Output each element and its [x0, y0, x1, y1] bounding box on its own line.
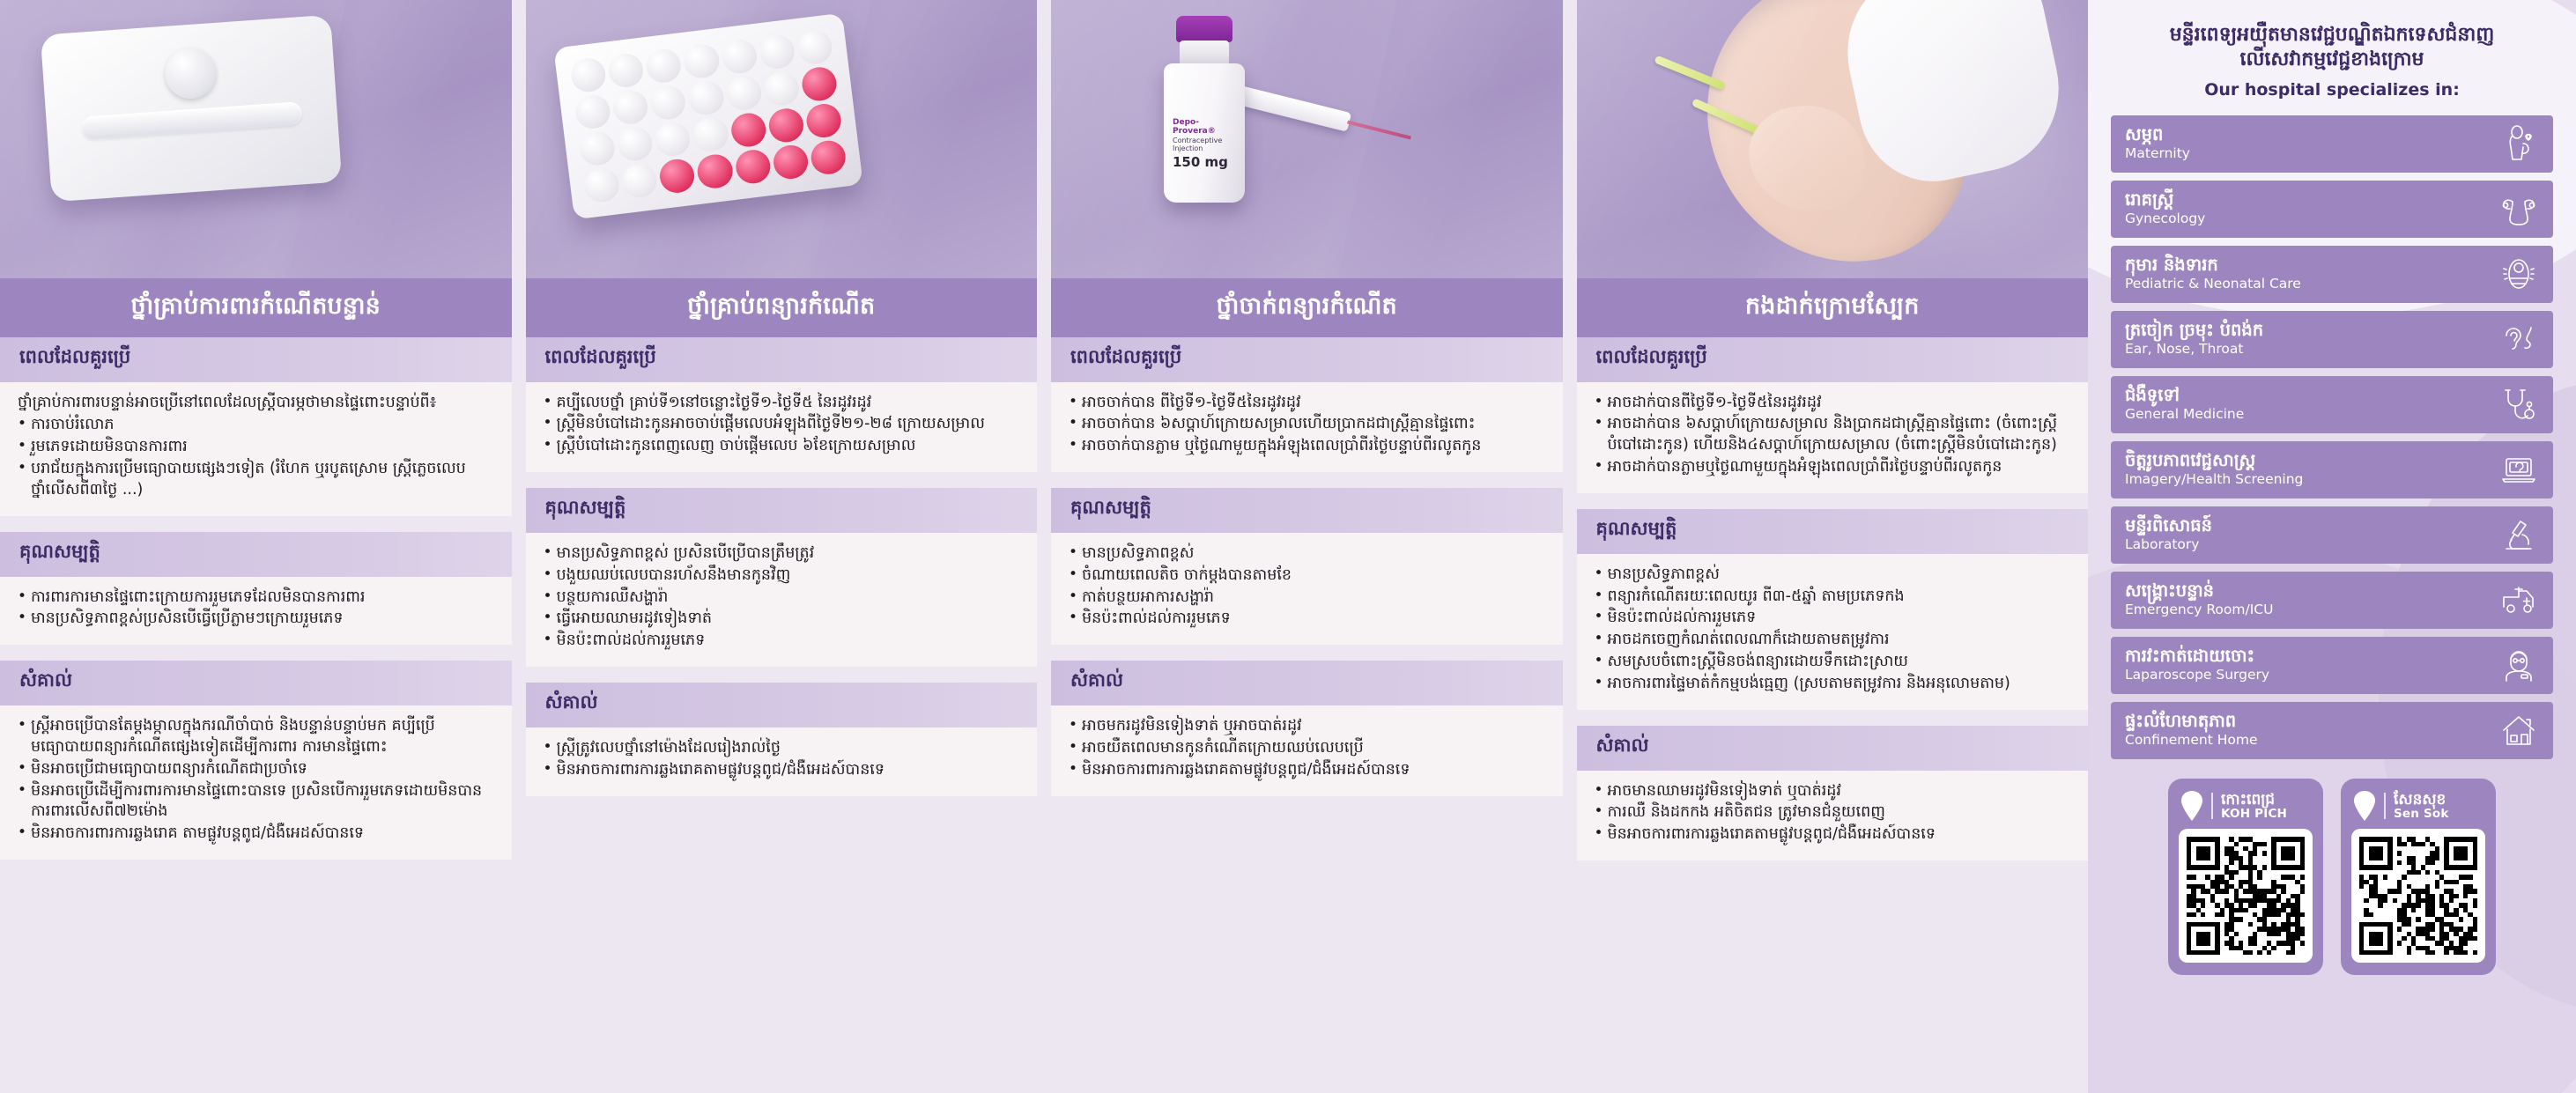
section-body-advantages: មានប្រសិទ្ធភាពខ្ពស់ ប្រសិនបើប្រើបានត្រឹម…: [526, 533, 1038, 667]
service-label-en: Imagery/Health Screening: [2125, 471, 2303, 488]
service-label-kh: ផ្ទះលំហែមាតុភាព: [2125, 713, 2258, 730]
method-columns: ថ្នាំគ្រាប់ការពារកំណើតបន្ទាន់ ពេលដែលគួរប…: [0, 0, 2088, 1093]
list-item: មិនប៉ះពាល់ដល់ការរួមភេទ: [1595, 608, 2071, 629]
bullet-list: ការពារការមានផ្ទៃពោះក្រោយការរួមភេទដែលមិនប…: [18, 587, 494, 631]
map-pin-icon: [2353, 791, 2376, 821]
section-heading-advantages: គុណសម្បត្តិ: [1577, 509, 2089, 554]
list-item: ធ្វើអោយឈាមរដូវទៀងទាត់: [544, 609, 1020, 630]
bullet-list: ស្ត្រីអាចប្រើបានតែម្តងម្កាលក្នុងករណីចាំប…: [18, 716, 494, 845]
list-item: អាចមានឈាមរដូវមិនទៀងទាត់ ឬបាត់រដូវ: [1595, 781, 2071, 802]
section-heading-notes: សំគាល់: [0, 661, 512, 705]
list-item: មានប្រសិទ្ធភាពខ្ពស់ ប្រសិនបើប្រើបានត្រឹម…: [544, 543, 1020, 565]
bullet-list: ការចាប់រំលោភ រួមភេទដោយមិនបានការពារ បរាជ័…: [18, 415, 494, 500]
sidebar-title: មន្ទីរពេទ្យអយ៉ឺតមានវេជ្ជបណ្ឌិតឯកទេសជំនាញ…: [2111, 0, 2553, 72]
section-heading-when-to-use: ពេលដែលគួរប្រើ: [1051, 337, 1563, 382]
bullet-list: អាចដាក់បានពីថ្ងៃទី១-ថ្ងៃទី៥នៃរដូវរដូវ អា…: [1595, 393, 2071, 478]
section-heading-notes: សំគាល់: [1577, 726, 2089, 771]
service-label-kh: ត្រចៀក ច្រមុះ បំពង់ក: [2125, 321, 2263, 339]
oral-contraceptive-blister-sheet-image: [526, 0, 1038, 278]
section-body-notes: ស្ត្រីអាចប្រើបានតែម្តងម្កាលក្នុងករណីចាំប…: [0, 705, 512, 860]
list-item: មិនប៉ះពាល់ដល់ការរួមភេទ: [544, 631, 1020, 652]
service-label-kh: សម្ភព: [2125, 126, 2190, 144]
service-label-en: Emergency Room/ICU: [2125, 602, 2273, 618]
map-pin-icon: [2180, 791, 2203, 821]
service-item-laboratory[interactable]: មន្ទីរពិសោធន៍ Laboratory: [2111, 506, 2553, 564]
list-item: អាចដាក់បាន ៦សប្តាហ៍ក្រោយសម្រាល និងប្រាកដ…: [1595, 414, 2071, 456]
bullet-list: គប្បីលេបថ្នាំ គ្រាប់ទី១នៅចន្លោះថ្ងៃទី១-ថ…: [544, 393, 1020, 457]
list-item: អាចមករដូវមិនទៀងទាត់ ឬអាចបាត់រដូវ: [1069, 716, 1545, 737]
house-icon: [2498, 710, 2539, 750]
list-item: អាចចាក់បាន ៦សប្តាហ៍ក្រោយសម្រាលហើយប្រាកដជ…: [1069, 414, 1545, 435]
section-heading-advantages: គុណសម្បត្តិ: [0, 532, 512, 577]
service-item-maternity[interactable]: សម្ភព Maternity: [2111, 115, 2553, 173]
list-item: បន្ថយការឈឺសង្ហារ៉ា: [544, 587, 1020, 609]
list-item: ការចាប់រំលោភ: [18, 415, 494, 436]
service-label-kh: កុមារ និងទារក: [2125, 256, 2301, 274]
swaddled-baby-icon: [2498, 254, 2539, 294]
bullet-list: មានប្រសិទ្ធភាពខ្ពស់ ប្រសិនបើប្រើបានត្រឹម…: [544, 543, 1020, 652]
ambulance-icon: [2498, 580, 2539, 620]
service-item-pediatric-neonatal[interactable]: កុមារ និងទារក Pediatric & Neonatal Care: [2111, 246, 2553, 303]
location-card-sen-sok[interactable]: សែនសុខ Sen Sok: [2341, 779, 2496, 975]
section-intro: ថ្នាំគ្រាប់ការពារបន្ទាន់អាចប្រើនៅពេលដែលស…: [18, 393, 494, 414]
column-title: ថ្នាំគ្រាប់ពន្យារកំណើត: [526, 278, 1038, 337]
location-label-kh: សែនសុខ: [2394, 792, 2449, 808]
bullet-list: អាចចាក់បាន ពីថ្ងៃទី១-ថ្ងៃទី៥នៃរដូវរដូវ អ…: [1069, 393, 1545, 457]
bullet-list: មានប្រសិទ្ធភាពខ្ពស់ ចំណាយពេលតិច ចាក់ម្តង…: [1069, 543, 1545, 630]
section-body-when-to-use: អាចចាក់បាន ពីថ្ងៃទី១-ថ្ងៃទី៥នៃរដូវរដូវ អ…: [1051, 382, 1563, 472]
section-body-notes: ស្ត្រីត្រូវលេបថ្នាំនៅម៉ោងដែលរៀងរាល់ថ្ងៃ …: [526, 727, 1038, 796]
emergency-contraceptive-pill-pack-image: [0, 0, 512, 278]
section-body-advantages: មានប្រសិទ្ធភាពខ្ពស់ ពន្យារកំណើតរយៈពេលយូរ…: [1577, 554, 2089, 710]
bullet-list: អាចមករដូវមិនទៀងទាត់ ឬអាចបាត់រដូវ អាចយឺតព…: [1069, 716, 1545, 780]
list-item: មិនអាចការពារការឆ្លងរោគ តាមផ្លូវបន្តពូជ/ជ…: [18, 823, 494, 845]
service-item-general-medicine[interactable]: ជំងឺទូទៅ General Medicine: [2111, 376, 2553, 433]
list-item: សមស្របចំពោះស្ត្រីមិនចង់ពន្យារដោយទឹកដោះស្…: [1595, 652, 2071, 673]
section-heading-when-to-use: ពេលដែលគួរប្រើ: [0, 337, 512, 382]
section-heading-advantages: គុណសម្បត្តិ: [526, 488, 1038, 533]
list-item: ចំណាយពេលតិច ចាក់ម្តងបានតាមខែ: [1069, 565, 1545, 587]
sidebar-title-line1: មន្ទីរពេទ្យអយ៉ឺតមានវេជ្ជបណ្ឌិតឯកទេសជំនាញ: [2111, 23, 2553, 48]
section-body-when-to-use: ថ្នាំគ្រាប់ការពារបន្ទាន់អាចប្រើនៅពេលដែលស…: [0, 382, 512, 516]
qr-code-sen-sok[interactable]: [2351, 829, 2485, 963]
list-item: គប្បីលេបថ្នាំ គ្រាប់ទី១នៅចន្លោះថ្ងៃទី១-ថ…: [544, 393, 1020, 414]
method-column-emergency-pill: ថ្នាំគ្រាប់ការពារកំណើតបន្ទាន់ ពេលដែលគួរប…: [0, 0, 512, 1093]
location-card-koh-pich[interactable]: កោះពេជ្រ KOH PICH: [2168, 779, 2323, 975]
service-item-ear-nose-throat[interactable]: ត្រចៀក ច្រមុះ បំពង់ក Ear, Nose, Throat: [2111, 311, 2553, 368]
location-label-kh: កោះពេជ្រ: [2221, 792, 2287, 808]
service-item-laparoscope-surgery[interactable]: ការវះកាត់ដោយចោះ Laparoscope Surgery: [2111, 637, 2553, 694]
list-item: មិនប៉ះពាល់ដល់ការរួមភេទ: [1069, 609, 1545, 630]
service-label-en: Laparoscope Surgery: [2125, 667, 2269, 683]
list-item: មានប្រសិទ្ធភាពខ្ពស់ប្រសិនបើធ្វើប្រើភ្លាម…: [18, 609, 494, 630]
service-label-en: General Medicine: [2125, 406, 2244, 423]
list-item: មិនអាចការពារការឆ្លងរោគតាមផ្លូវបន្តពូជ/ជំ…: [1069, 760, 1545, 781]
list-item: ស្ត្រីមិនបំបៅដោះកូនអាចចាប់ផ្តើមលេបអំឡុងព…: [544, 414, 1020, 435]
section-heading-notes: សំគាល់: [1051, 661, 1563, 705]
service-item-gynecology[interactable]: រោគស្រ្តី Gynecology: [2111, 181, 2553, 238]
service-label-en: Confinement Home: [2125, 732, 2258, 749]
list-item: ការឈឺ និងដកកង អតិចិតជន ត្រូវមានជំនួយពេញ: [1595, 802, 2071, 823]
sidebar-title-line2: លើសេវាកម្មវេជ្ជខាងក្រោម: [2111, 48, 2553, 72]
column-title: កងដាក់ក្រោមស្បែក: [1577, 278, 2089, 337]
surgeon-icon: [2498, 645, 2539, 685]
service-label-kh: សង្រ្គោះបន្ទាន់: [2125, 582, 2273, 600]
service-label-en: Ear, Nose, Throat: [2125, 341, 2263, 358]
section-heading-when-to-use: ពេលដែលគួរប្រើ: [1577, 337, 2089, 382]
column-title: ថ្នាំចាក់ពន្យារកំណើត: [1051, 278, 1563, 337]
section-body-advantages: ការពារការមានផ្ទៃពោះក្រោយការរួមភេទដែលមិនប…: [0, 577, 512, 646]
depo-provera-injection-vial-syringe-image: Depo-Provera®ContraceptiveInjection150 m…: [1051, 0, 1563, 278]
location-label-en: Sen Sok: [2394, 808, 2449, 821]
location-label-en: KOH PICH: [2221, 808, 2287, 821]
list-item: ពន្យារកំណើតរយៈពេលយូរ ពី៣-៥ឆ្នាំ តាមប្រភេ…: [1595, 587, 2071, 608]
service-label-kh: ជំងឺទូទៅ: [2125, 387, 2244, 404]
list-item: បងួយឈប់លេបបានរហ័សនឹងមានកូនវិញ: [544, 565, 1020, 587]
service-label-en: Maternity: [2125, 145, 2190, 162]
section-body-advantages: មានប្រសិទ្ធភាពខ្ពស់ ចំណាយពេលតិច ចាក់ម្តង…: [1051, 533, 1563, 645]
list-item: អាចដាក់បានពីថ្ងៃទី១-ថ្ងៃទី៥នៃរដូវរដូវ: [1595, 393, 2071, 414]
contraceptive-implant-in-arm-image: [1577, 0, 2089, 278]
location-qr-row: កោះពេជ្រ KOH PICH: [2111, 779, 2553, 975]
list-item: មិនអាចការពារការឆ្លងរោគតាមផ្លូវបន្តពូជ/ជំ…: [1595, 824, 2071, 846]
section-body-when-to-use: គប្បីលេបថ្នាំ គ្រាប់ទី១នៅចន្លោះថ្ងៃទី១-ថ…: [526, 382, 1038, 472]
list-item: មានប្រសិទ្ធភាពខ្ពស់: [1069, 543, 1545, 565]
section-body-when-to-use: អាចដាក់បានពីថ្ងៃទី១-ថ្ងៃទី៥នៃរដូវរដូវ អា…: [1577, 382, 2089, 493]
contraception-infographic-poster: ថ្នាំគ្រាប់ការពារកំណើតបន្ទាន់ ពេលដែលគួរប…: [0, 0, 2576, 1093]
list-item: មិនអាចប្រើជាមធ្យោបាយពន្យារកំណើតជាប្រចាំទ…: [18, 759, 494, 780]
list-item: មិនអាចប្រើដើម្បីការពារការមានផ្ទៃពោះបានទេ…: [18, 781, 494, 823]
list-item: ស្ត្រីបំបៅដោះកូនពេញលេញ ចាប់ផ្តើមលេប ៦ខែក…: [544, 436, 1020, 457]
ultrasound-laptop-icon: [2498, 449, 2539, 490]
stethoscope-icon: [2498, 384, 2539, 425]
list-item: អាចដកចេញកំណត់ពេលណាក៏ដោយតាមតម្រូវការ: [1595, 630, 2071, 651]
list-item: អាចដាក់បានភ្លាមឬថ្ងៃណាមួយក្នុងអំឡុងពេលប្…: [1595, 457, 2071, 478]
column-title: ថ្នាំគ្រាប់ការពារកំណើតបន្ទាន់: [0, 278, 512, 337]
service-label-en: Laboratory: [2125, 536, 2212, 553]
service-label-en: Gynecology: [2125, 210, 2205, 227]
list-item: អាចចាក់បានភ្លាម ឬថ្ងៃណាមួយក្នុងអំឡុងពេលប…: [1069, 436, 1545, 457]
method-column-implant: កងដាក់ក្រោមស្បែក ពេលដែលគួរប្រើ អាចដាក់បា…: [1577, 0, 2089, 1093]
list-item: មិនអាចការពារការឆ្លងរោគតាមផ្លូវបន្តពូជ/ជំ…: [544, 760, 1020, 781]
service-item-emergency-icu[interactable]: សង្រ្គោះបន្ទាន់ Emergency Room/ICU: [2111, 572, 2553, 629]
service-label-kh: ការវះកាត់ដោយចោះ: [2125, 647, 2269, 665]
list-item: អាចចាក់បាន ពីថ្ងៃទី១-ថ្ងៃទី៥នៃរដូវរដូវ: [1069, 393, 1545, 414]
uterus-icon: [2498, 188, 2539, 229]
service-label-kh: ចិត្តរូបភាពវេជ្ជសាស្ត្រ: [2125, 452, 2303, 469]
service-item-imagery-health-screening[interactable]: ចិត្តរូបភាពវេជ្ជសាស្ត្រ Imagery/Health S…: [2111, 441, 2553, 498]
list-item: បរាជ័យក្នុងការប្រើមធ្យោបាយផ្សេងៗទៀត (រំហ…: [18, 459, 494, 501]
section-body-notes: អាចមករដូវមិនទៀងទាត់ ឬអាចបាត់រដូវ អាចយឺតព…: [1051, 705, 1563, 795]
bullet-list: មានប្រសិទ្ធភាពខ្ពស់ ពន្យារកំណើតរយៈពេលយូរ…: [1595, 565, 2071, 695]
list-item: មានប្រសិទ្ធភាពខ្ពស់: [1595, 565, 2071, 586]
service-label-en: Pediatric & Neonatal Care: [2125, 276, 2301, 292]
section-heading-notes: សំគាល់: [526, 683, 1038, 727]
hospital-services-sidebar: មន្ទីរពេទ្យអយ៉ឺតមានវេជ្ជបណ្ឌិតឯកទេសជំនាញ…: [2088, 0, 2576, 1093]
method-column-injection: Depo-Provera®ContraceptiveInjection150 m…: [1051, 0, 1563, 1093]
list-item: ស្ត្រីអាចប្រើបានតែម្តងម្កាលក្នុងករណីចាំប…: [18, 716, 494, 758]
section-heading-advantages: គុណសម្បត្តិ: [1051, 488, 1563, 533]
qr-code-koh-pich[interactable]: [2179, 829, 2313, 963]
list-item: ការពារការមានផ្ទៃពោះក្រោយការរួមភេទដែលមិនប…: [18, 587, 494, 609]
microscope-icon: [2498, 514, 2539, 555]
list-item: ស្ត្រីត្រូវលេបថ្នាំនៅម៉ោងដែលរៀងរាល់ថ្ងៃ: [544, 738, 1020, 759]
list-item: អាចយឺតពេលមានកូនកំណើតក្រោយឈប់លេបប្រើ: [1069, 738, 1545, 759]
method-column-oral-pill: ថ្នាំគ្រាប់ពន្យារកំណើត ពេលដែលគួរប្រើ គប្…: [526, 0, 1038, 1093]
section-heading-when-to-use: ពេលដែលគួរប្រើ: [526, 337, 1038, 382]
service-label-kh: មន្ទីរពិសោធន៍: [2125, 517, 2212, 535]
list-item: អាចការពារផ្ទៃមាត់កំកម្មបង់ធ្មេញ (ស្របតាម…: [1595, 674, 2071, 695]
bullet-list: ស្ត្រីត្រូវលេបថ្នាំនៅម៉ោងដែលរៀងរាល់ថ្ងៃ …: [544, 738, 1020, 781]
section-body-notes: អាចមានឈាមរដូវមិនទៀងទាត់ ឬបាត់រដូវ ការឈឺ …: [1577, 771, 2089, 860]
pregnant-woman-icon: [2498, 123, 2539, 164]
service-label-kh: រោគស្រ្តី: [2125, 191, 2205, 209]
service-item-confinement-home[interactable]: ផ្ទះលំហែមាតុភាព Confinement Home: [2111, 702, 2553, 759]
bullet-list: អាចមានឈាមរដូវមិនទៀងទាត់ ឬបាត់រដូវ ការឈឺ …: [1595, 781, 2071, 846]
sidebar-subtitle: Our hospital specializes in:: [2111, 80, 2553, 100]
list-item: កាត់បន្ថយអាការសង្ហារ៉ា: [1069, 587, 1545, 609]
list-item: រួមភេទដោយមិនបានការពារ: [18, 437, 494, 458]
ear-nose-icon: [2498, 319, 2539, 359]
